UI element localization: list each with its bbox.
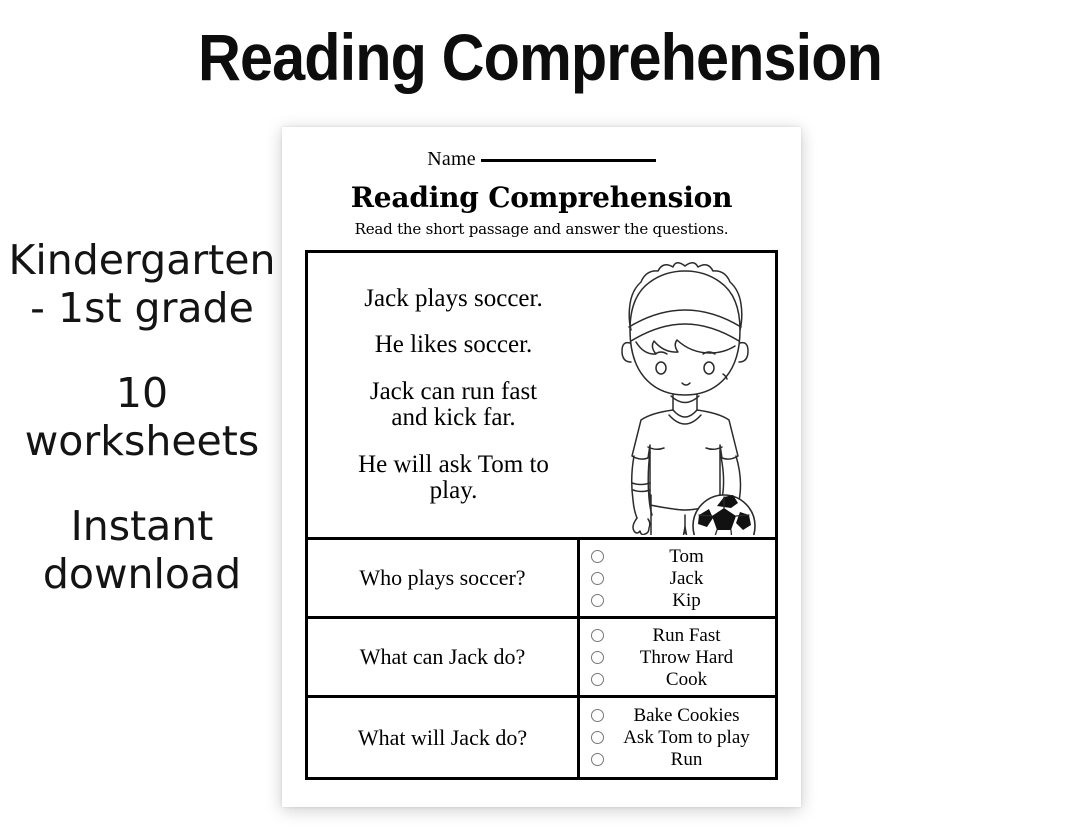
feature-grade-level: Kindergarten - 1st grade [0, 236, 284, 333]
radio-button-icon[interactable] [591, 673, 604, 686]
question-text: What will Jack do? [308, 698, 580, 777]
question-row: What will Jack do? Bake Cookies Ask Tom … [308, 698, 775, 777]
feature-line: Instant [0, 502, 284, 550]
worksheet-instructions: Read the short passage and answer the qu… [282, 220, 801, 238]
worksheet-title: Reading Comprehension [282, 181, 801, 214]
question-row: Who plays soccer? Tom Jack Kip [308, 540, 775, 619]
answer-label: Bake Cookies [604, 706, 773, 725]
answer-option[interactable]: Run [580, 749, 773, 771]
passage-line: He will ask Tom to play. [318, 452, 589, 505]
answer-label: Ask Tom to play [604, 728, 773, 747]
answer-option[interactable]: Jack [580, 567, 773, 589]
answer-label: Run [604, 750, 773, 769]
answer-option[interactable]: Tom [580, 545, 773, 567]
answer-label: Run Fast [604, 626, 773, 645]
passage-line: Jack plays soccer. [318, 286, 589, 313]
feature-worksheet-count: 10 worksheets [0, 369, 284, 466]
passage-line: He likes soccer. [318, 332, 589, 359]
answer-options: Bake Cookies Ask Tom to play Run [580, 698, 775, 777]
answer-option[interactable]: Run Fast [580, 624, 773, 646]
passage-subline: He will ask Tom to [358, 451, 549, 478]
answer-option[interactable]: Kip [580, 589, 773, 611]
radio-button-icon[interactable] [591, 753, 604, 766]
question-text: Who plays soccer? [308, 540, 580, 616]
radio-button-icon[interactable] [591, 629, 604, 642]
feature-delivery: Instant download [0, 502, 284, 599]
answer-label: Tom [604, 547, 773, 566]
passage-line: Jack can run fast and kick far. [318, 379, 589, 432]
radio-button-icon[interactable] [591, 594, 604, 607]
answer-option[interactable]: Throw Hard [580, 646, 773, 668]
answer-option[interactable]: Cook [580, 668, 773, 690]
passage-row: Jack plays soccer. He likes soccer. Jack… [308, 253, 775, 540]
answer-label: Kip [604, 591, 773, 610]
radio-button-icon[interactable] [591, 731, 604, 744]
answer-options: Tom Jack Kip [580, 540, 775, 616]
name-write-line[interactable] [481, 159, 656, 162]
passage-subline: Jack can run fast [370, 378, 537, 405]
name-label: Name [427, 148, 476, 170]
radio-button-icon[interactable] [591, 572, 604, 585]
feature-line: download [0, 550, 284, 598]
radio-button-icon[interactable] [591, 550, 604, 563]
feature-line: 10 [0, 369, 284, 417]
worksheet-page: Name Reading Comprehension Read the shor… [282, 127, 801, 807]
question-text: What can Jack do? [308, 619, 580, 695]
page-title: Reading Comprehension [54, 24, 1026, 90]
feature-line: worksheets [0, 417, 284, 465]
feature-list: Kindergarten - 1st grade 10 worksheets I… [0, 236, 284, 598]
answer-option[interactable]: Bake Cookies [580, 705, 773, 727]
boy-soccer-player-icon [599, 257, 771, 535]
answer-label: Jack [604, 569, 773, 588]
question-row: What can Jack do? Run Fast Throw Hard Co… [308, 619, 775, 698]
worksheet-table: Jack plays soccer. He likes soccer. Jack… [305, 250, 778, 780]
answer-label: Throw Hard [604, 648, 773, 667]
passage-subline: and kick far. [391, 404, 515, 431]
feature-line: - 1st grade [0, 284, 284, 332]
illustration-cell [595, 253, 775, 537]
answer-options: Run Fast Throw Hard Cook [580, 619, 775, 695]
passage-subline: play. [430, 477, 478, 504]
answer-label: Cook [604, 670, 773, 689]
answer-option[interactable]: Ask Tom to play [580, 727, 773, 749]
name-field-row: Name [282, 148, 801, 171]
radio-button-icon[interactable] [591, 651, 604, 664]
radio-button-icon[interactable] [591, 709, 604, 722]
passage-cell: Jack plays soccer. He likes soccer. Jack… [308, 253, 595, 537]
feature-line: Kindergarten [0, 236, 284, 284]
